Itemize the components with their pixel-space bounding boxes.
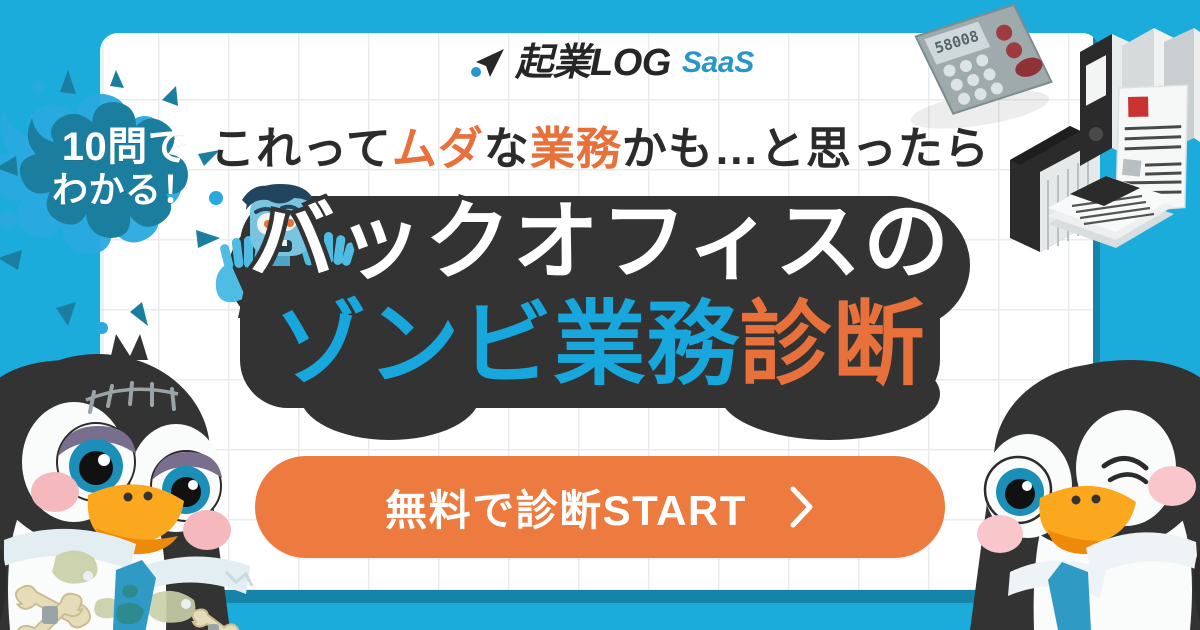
logo-main-text: 起業LOG <box>515 44 671 82</box>
logo-sub-text: SaaS <box>682 48 754 78</box>
tagline-part-4: かも…と思ったら <box>622 123 990 174</box>
cta-label: 無料で診断START <box>385 477 747 538</box>
tagline-part-3: 業務 <box>530 123 622 174</box>
headline-line-2-zombie: ゾンビ業務 <box>274 294 739 396</box>
tagline: これってムダな業務かも…と思ったら <box>0 112 1200 177</box>
chevron-right-icon <box>789 486 815 528</box>
headline-line-2-diagnosis: 診断 <box>740 294 926 396</box>
bottom-teal-strip <box>100 590 1100 603</box>
tagline-part-2: な <box>484 123 530 174</box>
poster-canvas: 58008 <box>0 0 1200 630</box>
tagline-part-1: ムダ <box>392 123 484 174</box>
bottom-cyan-base <box>0 603 1200 630</box>
headline-line-1: バックオフィスの <box>0 196 1200 289</box>
tagline-part-0: これって <box>210 123 392 174</box>
brand-logo[interactable]: 起業LOG SaaS <box>470 44 754 82</box>
start-diagnosis-button[interactable]: 無料で診断START <box>255 456 945 558</box>
headline-line-2: ゾンビ業務診断 <box>0 296 1200 395</box>
paper-plane-icon <box>470 48 506 78</box>
